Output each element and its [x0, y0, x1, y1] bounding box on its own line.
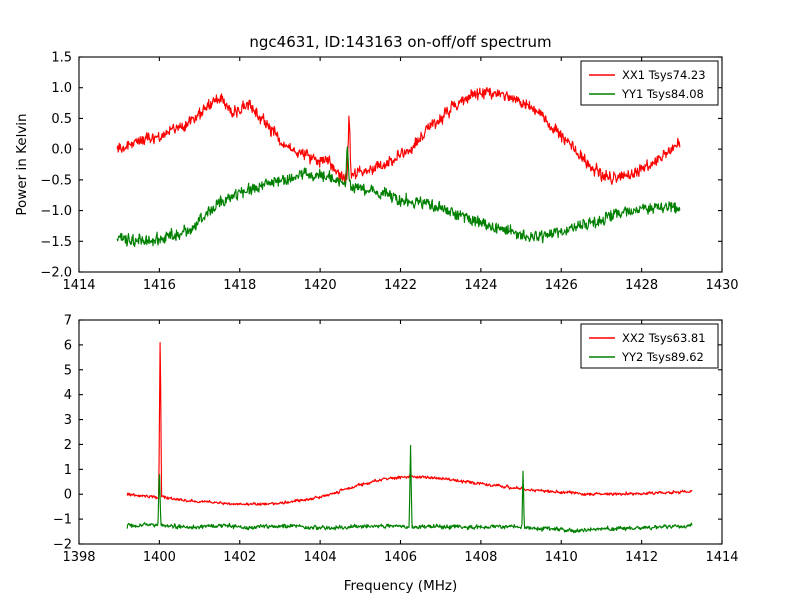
x-tick-label: 1430 — [705, 278, 738, 293]
x-tick-label: 1404 — [304, 550, 337, 565]
x-tick-label: 1426 — [545, 278, 578, 293]
y-tick-label: 1 — [64, 463, 72, 478]
data-traces — [117, 88, 680, 247]
y-tick-label: 5 — [64, 363, 72, 378]
y-tick-label: −2.0 — [40, 266, 72, 281]
y-tick-label: 7 — [64, 314, 72, 329]
x-tick-label: 1406 — [384, 550, 417, 565]
data-traces — [127, 343, 692, 533]
x-tick-label: 1418 — [223, 278, 256, 293]
panel-bottom: 139814001402140414061408141014121414−2−1… — [53, 314, 739, 595]
legend: XX2 Tsys63.81YY2 Tsys89.62 — [581, 324, 718, 368]
trace-yy1 — [117, 147, 680, 247]
y-tick-label: −2 — [53, 538, 72, 553]
x-tick-label: 1420 — [304, 278, 337, 293]
y-tick-label: 0.5 — [51, 112, 72, 127]
legend-label: YY2 Tsys89.62 — [621, 350, 704, 364]
spectrum-figure: 141414161418142014221424142614281430−2.0… — [0, 0, 800, 600]
y-tick-label: 4 — [64, 388, 72, 403]
trace-yy2 — [127, 445, 692, 532]
x-tick-label: 1410 — [545, 550, 578, 565]
x-tick-label: 1416 — [143, 278, 176, 293]
y-tick-label: −1.0 — [40, 204, 72, 219]
x-tick-label: 1424 — [464, 278, 497, 293]
y-axis-label: Power in Kelvin — [14, 113, 30, 215]
y-tick-label: 6 — [64, 338, 72, 353]
y-tick-label: 2 — [64, 438, 72, 453]
x-tick-label: 1400 — [143, 550, 176, 565]
y-tick-label: 1.5 — [51, 51, 72, 66]
y-tick-label: 0 — [64, 488, 72, 503]
x-tick-label: 1428 — [625, 278, 658, 293]
x-tick-label: 1402 — [223, 550, 256, 565]
panel-top: 141414161418142014221424142614281430−2.0… — [14, 33, 739, 293]
y-tick-label: 0.0 — [51, 143, 72, 158]
y-tick-label: 1.0 — [51, 81, 72, 96]
legend-label: YY1 Tsys84.08 — [621, 87, 704, 101]
x-axis-label: Frequency (MHz) — [344, 578, 457, 594]
legend-label: XX2 Tsys63.81 — [622, 331, 706, 345]
y-tick-label: 3 — [64, 413, 72, 428]
y-tick-label: −0.5 — [40, 173, 72, 188]
legend: XX1 Tsys74.23YY1 Tsys84.08 — [581, 61, 718, 105]
legend-label: XX1 Tsys74.23 — [622, 68, 706, 82]
y-tick-label: −1 — [53, 513, 72, 528]
x-tick-label: 1408 — [464, 550, 497, 565]
y-tick-label: −1.5 — [40, 235, 72, 250]
x-tick-label: 1412 — [625, 550, 658, 565]
plot-title: ngc4631, ID:143163 on-off/off spectrum — [249, 33, 551, 51]
x-tick-label: 1422 — [384, 278, 417, 293]
figure-canvas: 141414161418142014221424142614281430−2.0… — [0, 0, 800, 600]
x-tick-label: 1414 — [705, 550, 738, 565]
